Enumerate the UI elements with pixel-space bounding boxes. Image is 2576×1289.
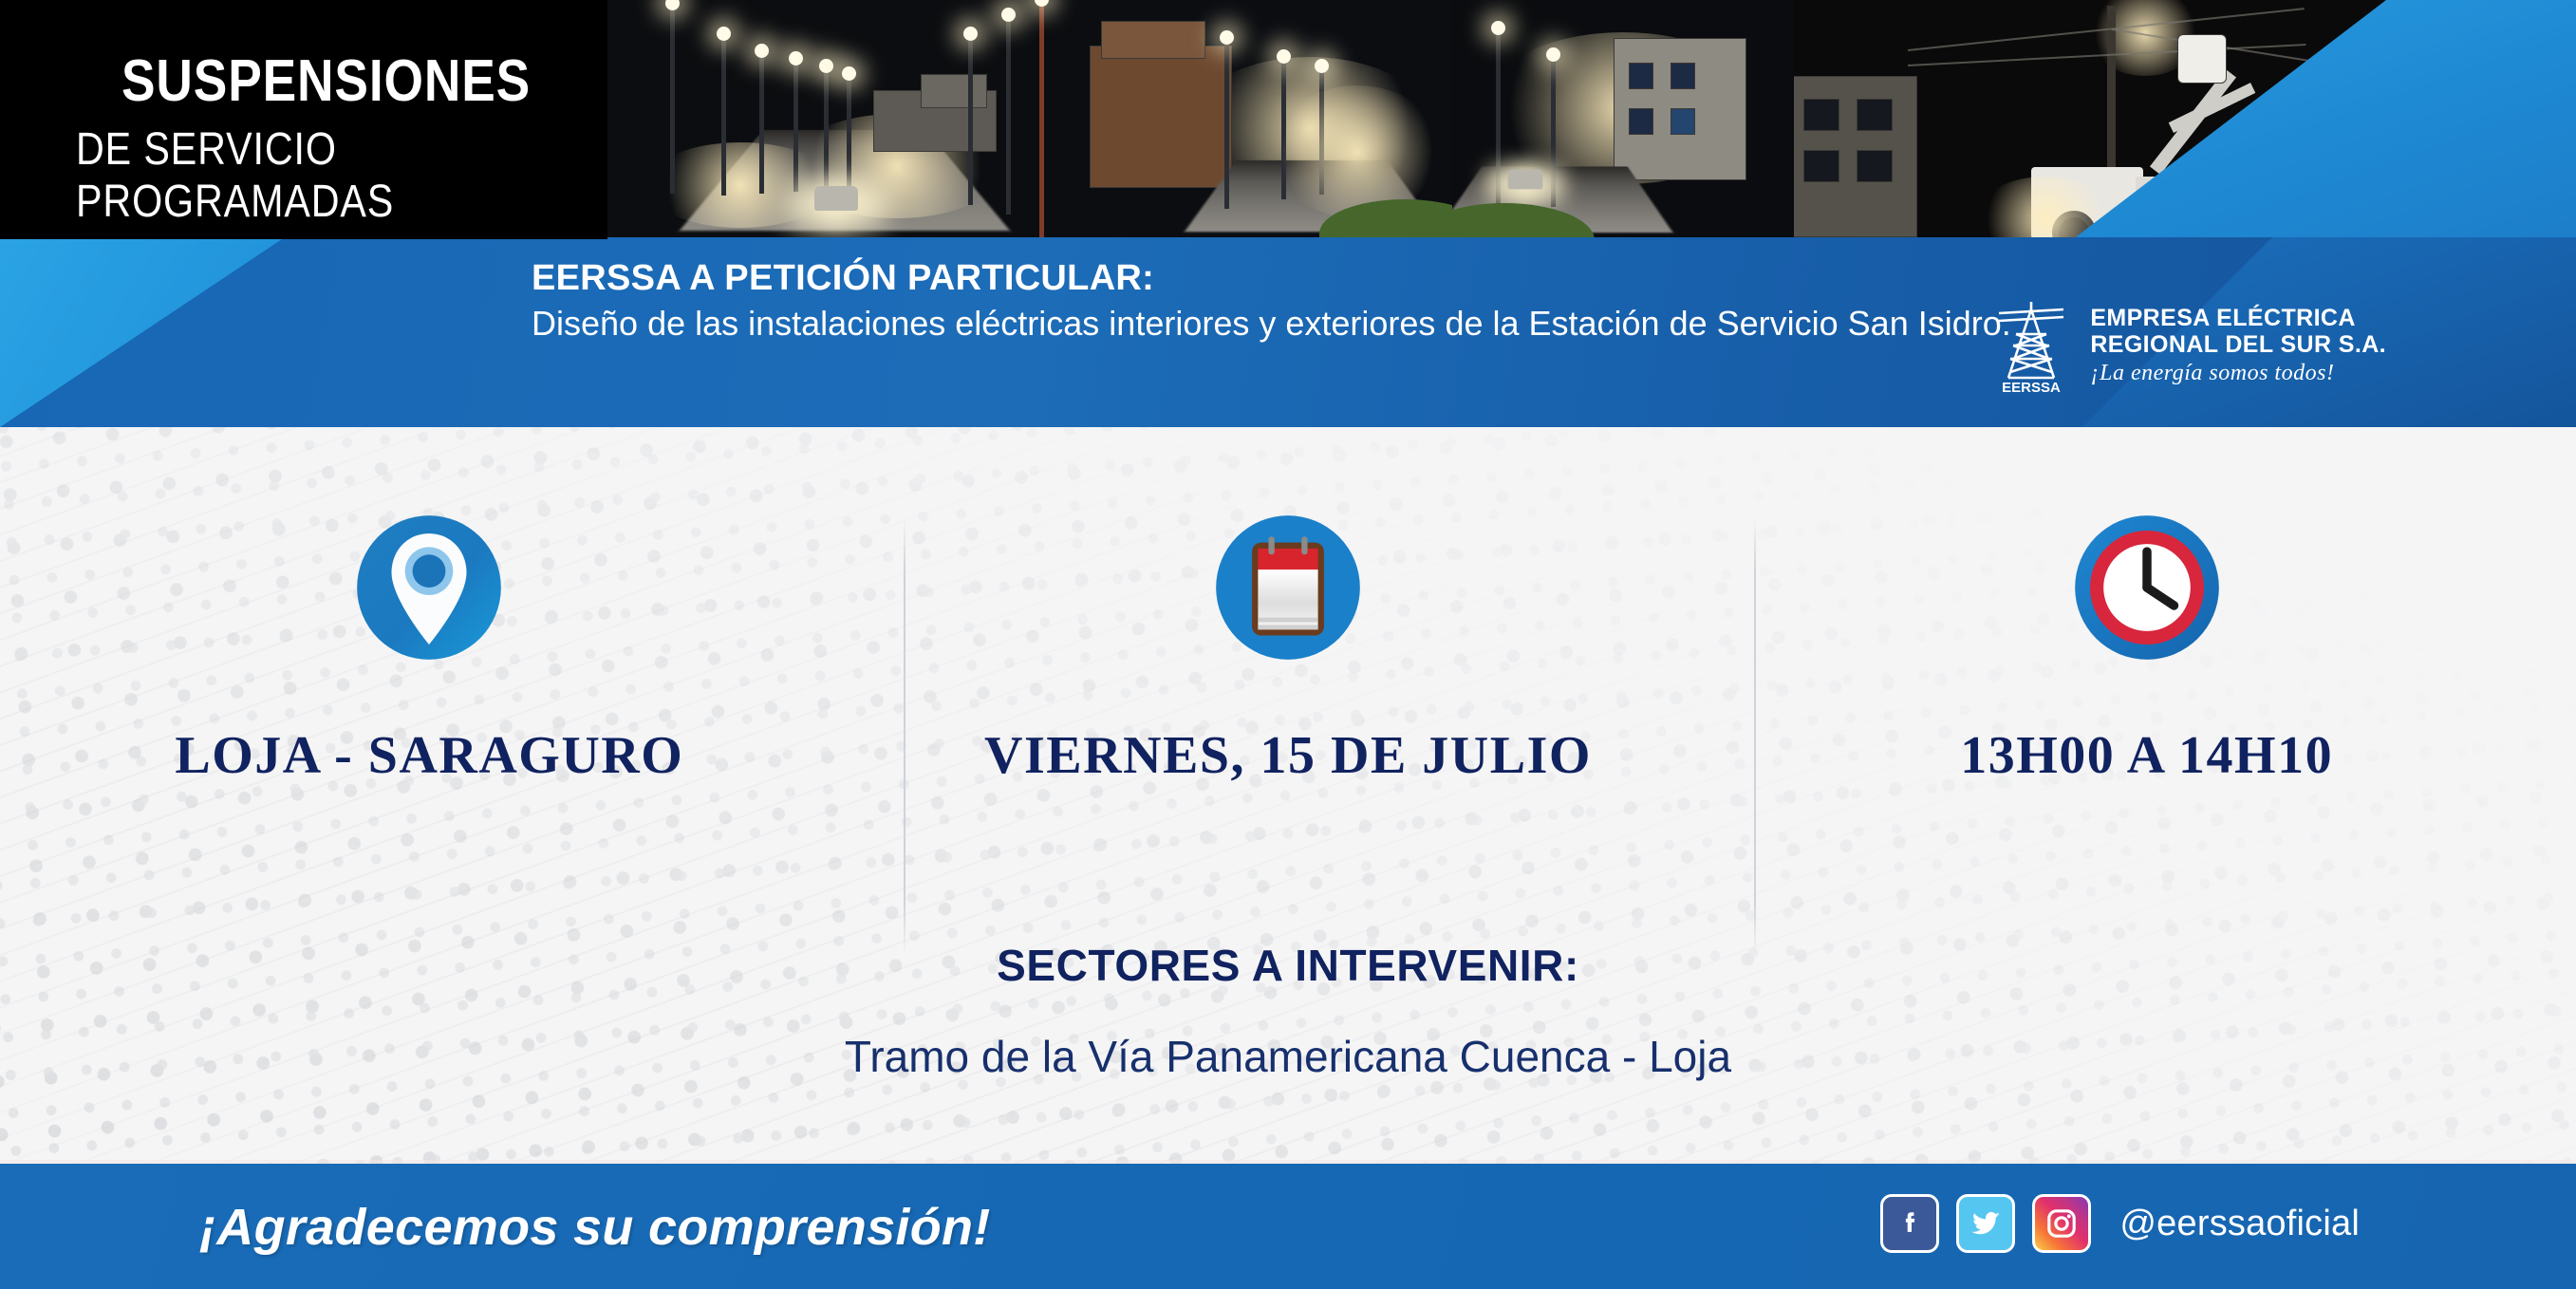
calendar-icon <box>1213 513 1363 663</box>
sectors-title: SECTORES A INTERVENIR: <box>0 940 2576 991</box>
info-label-location: LOJA - SARAGURO <box>175 725 683 786</box>
calendar-icon-wrap <box>1213 513 1363 663</box>
info-label-time: 13H00 A 14H10 <box>1960 725 2333 786</box>
eerssa-logo: EERSSA EMPRESA ELÉCTRICA REGIONAL DEL SU… <box>1988 296 2386 395</box>
info-column-location: LOJA - SARAGURO <box>0 513 859 826</box>
announcement-description: Diseño de las instalaciones eléctricas i… <box>532 303 2126 344</box>
photo-strip: SUSPENSIONES DE SERVICIO PROGRAMADAS <box>0 0 2576 239</box>
info-column-date: VIERNES, 15 DE JULIO <box>859 513 1718 826</box>
sectors-body: Tramo de la Vía Panamericana Cuenca - Lo… <box>0 1031 2576 1082</box>
info-columns: LOJA - SARAGURO <box>0 513 2576 826</box>
clock-icon <box>2072 513 2222 663</box>
logo-line-1: EMPRESA ELÉCTRICA <box>2090 305 2386 331</box>
sectors-section: SECTORES A INTERVENIR: Tramo de la Vía P… <box>0 940 2576 1082</box>
social-links: @eerssaoficial <box>1880 1194 2360 1253</box>
location-pin-icon-wrap <box>354 513 504 663</box>
poster-footer: ¡Agradecemos su comprensión! @eerssao <box>0 1164 2576 1289</box>
poster-title-line2: DE SERVICIO PROGRAMADAS <box>76 123 533 228</box>
photo-night-street-1 <box>607 0 1082 239</box>
photo-night-street-3 <box>1452 0 1794 239</box>
social-handle: @eerssaoficial <box>2119 1204 2360 1244</box>
transmission-tower-icon: EERSSA <box>1988 296 2075 395</box>
announcement-text: EERSSA A PETICIÓN PARTICULAR: Diseño de … <box>532 258 2145 344</box>
info-label-date: VIERNES, 15 DE JULIO <box>984 725 1592 786</box>
footer-thanks-text: ¡Agradecemos su comprensión! <box>199 1198 991 1257</box>
facebook-icon[interactable] <box>1880 1194 1939 1253</box>
instagram-icon[interactable] <box>2032 1194 2091 1253</box>
footer-top-rule <box>0 1160 2576 1164</box>
logo-slogan: ¡La energía somos todos! <box>2090 361 2386 386</box>
clock-icon-wrap <box>2072 513 2222 663</box>
poster-title-plate: SUSPENSIONES DE SERVICIO PROGRAMADAS <box>0 0 607 239</box>
logo-mark-text: EERSSA <box>2002 380 2061 395</box>
poster-title-line1: SUSPENSIONES <box>121 47 531 115</box>
logo-line-2: REGIONAL DEL SUR S.A. <box>2090 331 2386 358</box>
twitter-icon[interactable] <box>1956 1194 2015 1253</box>
announcement-heading: EERSSA A PETICIÓN PARTICULAR: <box>532 258 2145 299</box>
location-pin-icon <box>354 513 504 663</box>
suspension-notice-poster: SUSPENSIONES DE SERVICIO PROGRAMADAS EER… <box>0 0 2576 1289</box>
info-column-time: 13H00 A 14H10 <box>1717 513 2576 826</box>
photo-night-street-2 <box>1082 0 1452 239</box>
